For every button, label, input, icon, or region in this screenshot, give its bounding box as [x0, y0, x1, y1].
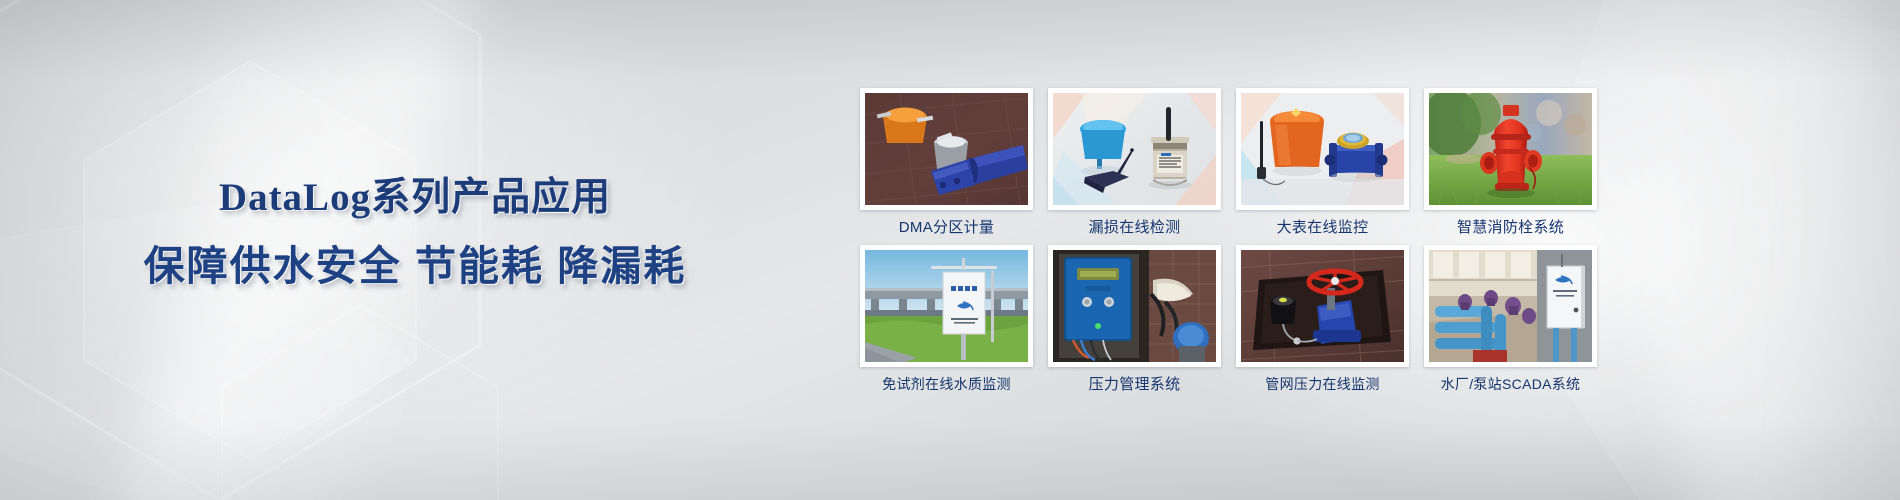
product-row-1: DMA分区计量 — [860, 88, 1588, 237]
smart-hydrant-system-photo — [1429, 93, 1592, 205]
product-card-pressure-management[interactable]: 压力管理系统 — [1048, 245, 1221, 394]
thumbnail-frame[interactable] — [1048, 245, 1221, 367]
product-application-banner: DataLog系列产品应用 保障供水安全 节能耗 降漏耗 — [0, 0, 1900, 500]
product-card-waterworks-scada[interactable]: 水厂/泵站SCADA系统 — [1424, 245, 1597, 394]
product-caption: 漏损在线检测 — [1089, 219, 1181, 237]
product-card-water-quality-monitoring[interactable]: 免试剂在线水质监测 — [860, 245, 1033, 394]
product-caption: 压力管理系统 — [1089, 376, 1181, 394]
dma-zone-metering-photo — [865, 93, 1028, 205]
product-caption: 管网压力在线监测 — [1265, 376, 1379, 393]
reagent-free-water-quality-photo — [865, 250, 1028, 362]
thumbnail-frame[interactable] — [860, 245, 1033, 367]
pressure-management-system-photo — [1053, 250, 1216, 362]
product-card-smart-hydrant-system[interactable]: 智慧消防栓系统 — [1424, 88, 1597, 237]
thumbnail-frame[interactable] — [1424, 88, 1597, 210]
product-application-grid: DMA分区计量 — [860, 88, 1588, 394]
product-caption: DMA分区计量 — [899, 219, 994, 237]
pipe-network-pressure-photo — [1241, 250, 1404, 362]
product-card-leakage-online-detection[interactable]: 漏损在线检测 — [1048, 88, 1221, 237]
product-card-pipe-network-pressure[interactable]: 管网压力在线监测 — [1236, 245, 1409, 394]
product-caption: 智慧消防栓系统 — [1457, 219, 1564, 237]
product-caption: 免试剂在线水质监测 — [882, 376, 1011, 393]
headline-line-primary: DataLog系列产品应用 — [0, 178, 830, 217]
thumbnail-frame[interactable] — [860, 88, 1033, 210]
thumbnail-frame[interactable] — [1236, 245, 1409, 367]
product-card-large-meter-monitoring[interactable]: 大表在线监控 — [1236, 88, 1409, 237]
large-meter-online-monitoring-photo — [1241, 93, 1404, 205]
product-row-2: 免试剂在线水质监测 — [860, 245, 1588, 394]
headline-line-secondary: 保障供水安全 节能耗 降漏耗 — [0, 246, 830, 287]
thumbnail-frame[interactable] — [1236, 88, 1409, 210]
product-card-dma-zone-metering[interactable]: DMA分区计量 — [860, 88, 1033, 237]
product-caption: 大表在线监控 — [1277, 219, 1369, 237]
product-caption: 水厂/泵站SCADA系统 — [1441, 376, 1581, 393]
banner-headline: DataLog系列产品应用 保障供水安全 节能耗 降漏耗 — [0, 178, 830, 287]
waterworks-scada-system-photo — [1429, 250, 1592, 362]
thumbnail-frame[interactable] — [1424, 245, 1597, 367]
thumbnail-frame[interactable] — [1048, 88, 1221, 210]
leakage-online-detection-photo — [1053, 93, 1216, 205]
